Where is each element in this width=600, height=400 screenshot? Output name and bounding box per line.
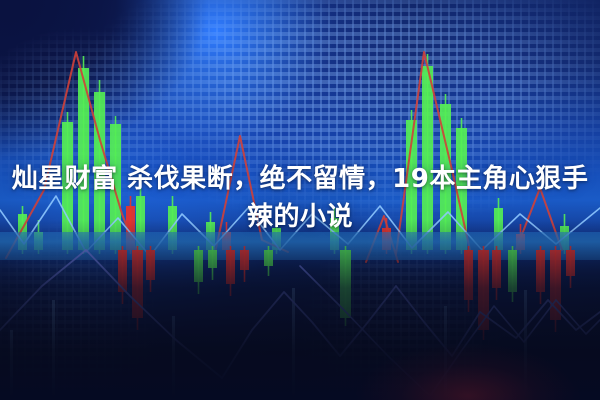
headline-text: 灿星财富 杀伐果断，绝不留情，19本主角心狠手辣的小说 <box>0 160 600 236</box>
headline-container: 灿星财富 杀伐果断，绝不留情，19本主角心狠手辣的小说 <box>0 160 600 236</box>
banner-image: 灿星财富 杀伐果断，绝不留情，19本主角心狠手辣的小说 <box>0 0 600 400</box>
